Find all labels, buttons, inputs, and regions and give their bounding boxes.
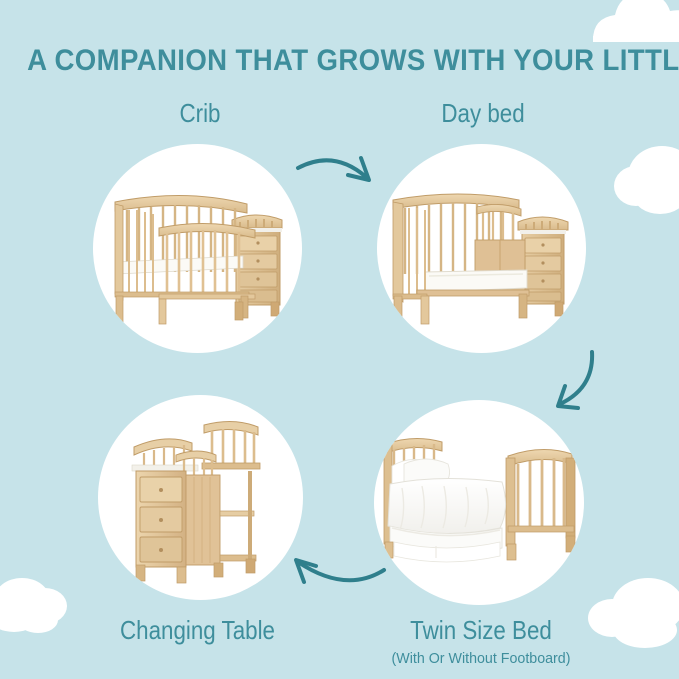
stage-label-day-bed: Day bed	[393, 98, 574, 129]
curved-arrow-icon	[298, 158, 369, 180]
crib-illustration	[115, 195, 282, 324]
curved-arrow-icon	[296, 560, 384, 582]
stage-label-crib: Crib	[110, 98, 291, 129]
arrow-twin-bed-to-changing-table	[278, 538, 394, 610]
day-bed-illustration	[393, 194, 568, 324]
infographic-poster: A COMPANION THAT GROWS WITH YOUR LITTLE …	[0, 0, 679, 679]
stage-image-crib	[93, 144, 302, 353]
stage-label-changing-table: Changing Table	[105, 615, 290, 646]
twin-bed-illustration	[384, 438, 575, 562]
curved-arrow-icon	[558, 352, 592, 408]
cloud-decorations	[0, 0, 679, 679]
stage-label-twin-size-bed: Twin Size Bed	[387, 615, 574, 646]
cloud-bottom-right	[588, 578, 679, 648]
stage-sublabel-twin-size-bed: (With Or Without Footboard)	[377, 650, 584, 667]
cloud-top-right	[593, 0, 679, 42]
stage-image-day-bed	[377, 144, 586, 353]
changing-table-illustration	[132, 421, 260, 583]
cloud-bottom-left	[0, 578, 67, 633]
stage-image-changing-table	[98, 395, 303, 600]
cloud-right-upper	[614, 146, 679, 214]
page-title: A COMPANION THAT GROWS WITH YOUR LITTLE …	[27, 44, 652, 78]
stage-image-twin-size-bed	[374, 400, 584, 605]
